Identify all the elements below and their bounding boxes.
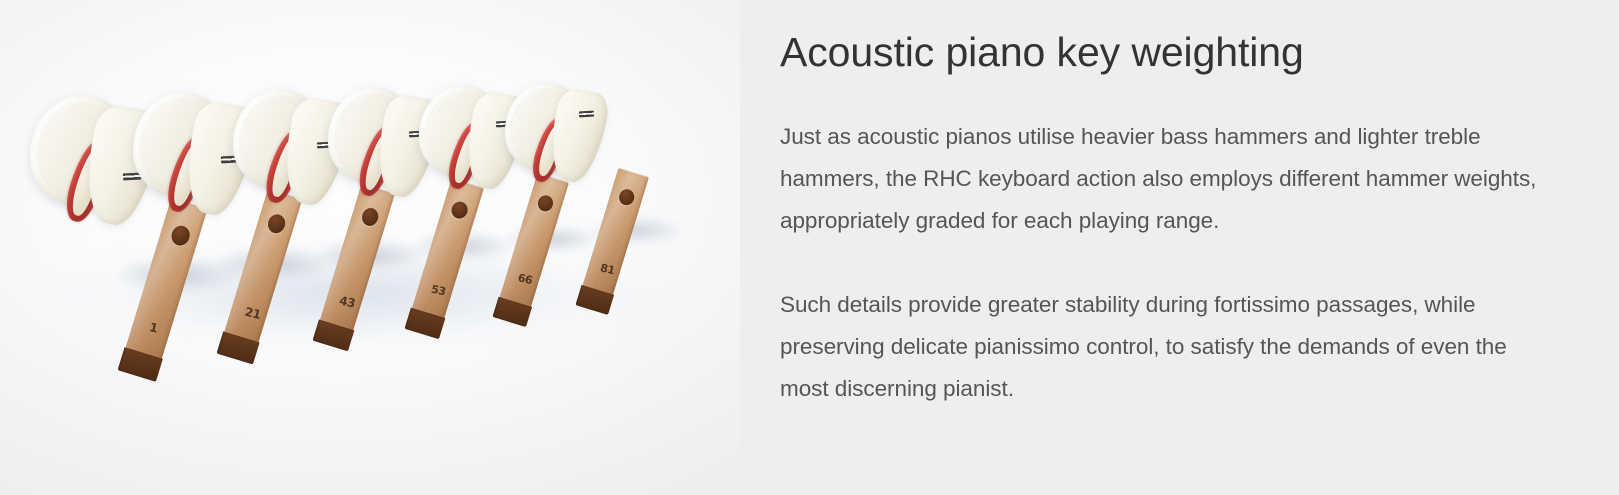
- piano-hammer: 81: [505, 83, 657, 241]
- key-weighting-section: 1 21: [0, 0, 1619, 495]
- paragraph-2: Such details provide greater stability d…: [780, 284, 1540, 410]
- hammer-label-stamp: [579, 111, 594, 118]
- shank-size-mark: 21: [244, 306, 262, 321]
- section-body: Just as acoustic pianos utilise heavier …: [780, 116, 1540, 410]
- shank-size-mark: 43: [338, 294, 356, 309]
- shank-size-mark: 81: [599, 262, 615, 276]
- hammer-shank: 81: [577, 168, 649, 314]
- shank-end-grain: [217, 331, 260, 364]
- hammer-photo-panel: 1 21: [0, 0, 740, 495]
- section-heading: Acoustic piano key weighting: [780, 28, 1559, 76]
- shank-end-grain: [575, 285, 614, 315]
- text-panel: Acoustic piano key weighting Just as aco…: [740, 0, 1619, 495]
- paragraph-1: Just as acoustic pianos utilise heavier …: [780, 116, 1540, 242]
- shank-hole: [617, 187, 636, 207]
- shank-size-mark: 1: [148, 321, 158, 334]
- piano-hammer-row: 1 21: [0, 0, 740, 495]
- shank-end-grain: [118, 347, 163, 382]
- shank-end-grain: [313, 320, 355, 352]
- shank-size-mark: 53: [430, 283, 446, 297]
- shank-size-mark: 66: [517, 272, 533, 286]
- shank-end-grain: [404, 308, 445, 340]
- shank-end-grain: [492, 297, 532, 327]
